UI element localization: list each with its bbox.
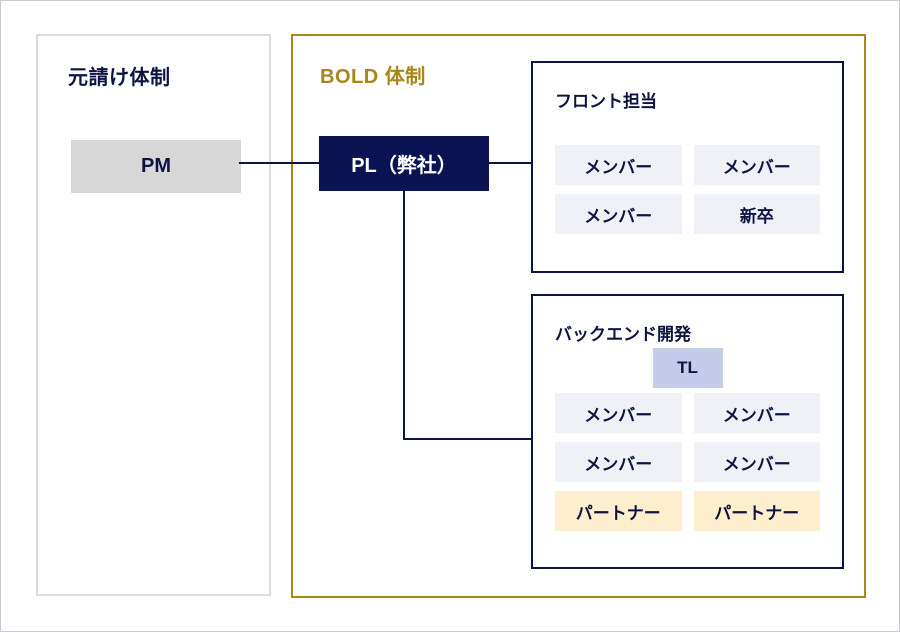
team-member-chip: メンバー bbox=[694, 442, 821, 482]
team-member-chip: メンバー bbox=[555, 194, 682, 234]
prime-contractor-panel: 元請け体制 PM bbox=[36, 34, 271, 596]
connector-pl-to-front-group bbox=[489, 162, 533, 164]
bold-organization-title: BOLD 体制 bbox=[320, 60, 426, 89]
backend-team-lead-row: TL bbox=[555, 348, 820, 388]
front-team-title: フロント担当 bbox=[555, 87, 657, 112]
connector-pm-to-pl bbox=[239, 162, 319, 164]
team-member-chip: メンバー bbox=[555, 393, 682, 433]
diagram-canvas: 元請け体制 PM BOLD 体制 PL（弊社） フロント担当 メンバー メンバー… bbox=[0, 0, 900, 632]
team-member-chip: メンバー bbox=[694, 393, 821, 433]
connector-pl-vertical-drop bbox=[403, 191, 405, 440]
team-lead-chip: TL bbox=[653, 348, 723, 388]
front-team-group: フロント担当 メンバー メンバー メンバー 新卒 bbox=[531, 61, 844, 273]
connector-elbow-to-backend-group bbox=[403, 438, 533, 440]
pl-role-box: PL（弊社） bbox=[319, 136, 489, 191]
backend-team-title: バックエンド開発 bbox=[555, 320, 691, 345]
backend-team-member-grid: メンバー メンバー メンバー メンバー パートナー パートナー bbox=[555, 393, 820, 531]
pm-role-box: PM bbox=[71, 140, 241, 193]
partner-chip: パートナー bbox=[694, 491, 821, 531]
team-member-chip: メンバー bbox=[694, 145, 821, 185]
partner-chip: パートナー bbox=[555, 491, 682, 531]
prime-contractor-title: 元請け体制 bbox=[68, 61, 171, 90]
front-team-member-grid: メンバー メンバー メンバー 新卒 bbox=[555, 145, 820, 234]
team-member-chip: メンバー bbox=[555, 145, 682, 185]
backend-team-group: バックエンド開発 TL メンバー メンバー メンバー メンバー パートナー パー… bbox=[531, 294, 844, 569]
team-member-chip: 新卒 bbox=[694, 194, 821, 234]
team-member-chip: メンバー bbox=[555, 442, 682, 482]
